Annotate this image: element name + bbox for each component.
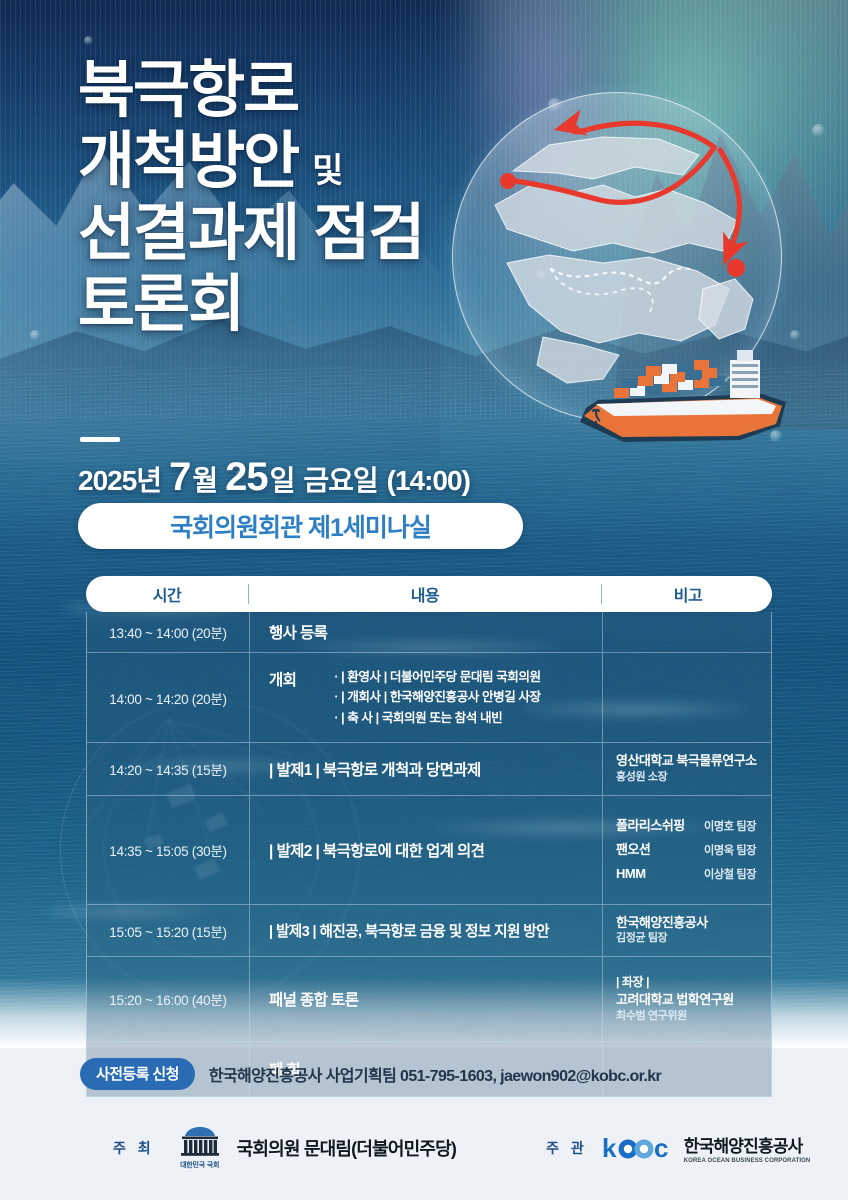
column-header-remarks: 비고 [602, 582, 774, 606]
remark-company: 팬오션 [616, 838, 704, 862]
remark-person: 이상철 팀장 [704, 865, 756, 886]
table-row: 14:35 ~ 15:05 (30분) | 발제2 | 북극항로에 대한 업계 … [87, 795, 771, 904]
event-date-line: 2025년 7 월 25 일 금요일 (14:00) [78, 455, 470, 500]
row-content: | 발제1 | 북극항로 개척과 당면과제 [249, 743, 602, 794]
host-name: 국회의원 문대림(더불어민주당) [237, 1135, 456, 1161]
table-row: 13:40 ~ 14:00 (20분) 행사 등록 [87, 612, 771, 652]
row-time: 14:20 ~ 14:35 (15분) [87, 743, 249, 794]
globe-illustration [452, 92, 782, 422]
registration-contact: 한국해양진흥공사 사업기획팀 051-795-1603, jaewon902@k… [209, 1062, 661, 1086]
row-time: 15:05 ~ 15:20 (15분) [87, 905, 249, 956]
title-conjunction: 및 [312, 152, 342, 190]
row-content: 패널 종합 토론 [249, 957, 602, 1040]
row-title: 개회 [269, 667, 296, 690]
schedule-table-body: 13:40 ~ 14:00 (20분) 행사 등록 14:00 ~ 14:20 … [86, 612, 772, 1097]
date-year: 2025년 [78, 459, 161, 499]
organizer-name-kr: 한국해양진흥공사 [684, 1132, 811, 1157]
registration-row: 사전등록 신청 한국해양진흥공사 사업기획팀 051-795-1603, jae… [80, 1058, 661, 1090]
remark-organization: 고려대학교 법학연구원 [616, 991, 771, 1009]
route-endpoint-europe [500, 173, 516, 189]
schedule-table-header: 시간 내용 비고 [86, 576, 772, 612]
title-line-3: 선결과제 점검 [78, 203, 423, 264]
row-remarks: | 좌장 | 고려대학교 법학연구원 최수범 연구위원 [602, 957, 771, 1040]
route-endpoint-korea [727, 259, 745, 277]
organizer-name-en: KOREA OCEAN BUSINESS CORPORATION [684, 1158, 811, 1164]
date-time: (14:00) [387, 465, 470, 497]
row-title: | 발제2 | 북극항로에 대한 업계 의견 [269, 839, 484, 861]
svg-text:k: k [602, 1133, 617, 1163]
opening-program-list: · | 환영사 | 더불어민주당 문대림 국회의원 · | 개회사 | 한국해양… [334, 667, 540, 728]
remark-organization: 영산대학교 북극물류연구소 [616, 752, 771, 770]
route-line-northern [510, 148, 714, 202]
date-month-unit: 월 [192, 459, 217, 499]
table-row: 14:20 ~ 14:35 (15분) | 발제1 | 북극항로 개척과 당면과… [87, 742, 771, 794]
row-title: | 발제1 | 북극항로 개척과 당면과제 [269, 758, 481, 780]
registration-badge[interactable]: 사전등록 신청 [80, 1058, 195, 1090]
row-content: | 발제2 | 북극항로에 대한 업계 의견 [249, 796, 602, 904]
row-time: 14:00 ~ 14:20 (20분) [87, 653, 249, 742]
title-line-4: 토론회 [78, 274, 423, 335]
row-remarks: 한국해양진흥공사 김정균 팀장 [602, 905, 771, 956]
column-header-time: 시간 [86, 582, 248, 606]
title-line-2: 개척방안및 [78, 131, 423, 192]
bokeh-dot [812, 124, 825, 137]
remark-company: 폴라리스쉬핑 [616, 814, 704, 838]
poster-root: 북극항로 개척방안및 선결과제 점검 토론회 2025년 7 월 25 일 금요… [0, 0, 848, 1200]
kobc-logo-icon[interactable]: k c [602, 1133, 672, 1163]
date-day-number: 25 [225, 455, 268, 500]
title-divider-rule [80, 437, 120, 442]
table-row: 15:20 ~ 16:00 (40분) 패널 종합 토론 | 좌장 | 고려대학… [87, 956, 771, 1040]
remark-chair-label: | 좌장 | [616, 973, 771, 991]
route-arrow-west [570, 123, 714, 147]
date-month-number: 7 [169, 455, 190, 500]
row-content: 개회 · | 환영사 | 더불어민주당 문대림 국회의원 · | 개회사 | 한… [249, 653, 602, 742]
opening-item-welcome: · | 환영사 | 더불어민주당 문대림 국회의원 [334, 667, 540, 687]
venue-text: 국회의원회관 제1세미나실 [170, 508, 431, 544]
national-assembly-logo: 대한민국 국회 [173, 1125, 227, 1170]
row-title: 행사 등록 [269, 621, 327, 643]
table-row: 15:05 ~ 15:20 (15분) | 발제3 | 해진공, 북극항로 금융… [87, 904, 771, 956]
title-line-2-text: 개척방안 [78, 127, 298, 196]
footer-host-group: 주 최 대한민국 국회 [113, 1125, 456, 1170]
row-remarks [602, 653, 771, 742]
remark-person: 김정균 팀장 [616, 931, 771, 947]
remark-person: 최수범 연구위원 [616, 1009, 771, 1025]
schedule-table: 시간 내용 비고 13:40 ~ 14:00 (20분) 행사 등록 14:00… [86, 576, 772, 1097]
title-line-1: 북극항로 [78, 60, 423, 121]
remark-person: 홍성원 소장 [616, 770, 771, 786]
row-remarks: 영산대학교 북극물류연구소 홍성원 소장 [602, 743, 771, 794]
row-title: | 발제3 | 해진공, 북극항로 금융 및 정보 지원 방안 [269, 920, 549, 941]
bokeh-dot [30, 330, 40, 340]
route-arrow-south [720, 150, 739, 250]
assembly-building-icon [173, 1125, 227, 1159]
venue-pill: 국회의원회관 제1세미나실 [78, 503, 523, 549]
remark-pair: 팬오션 이명욱 팀장 [616, 838, 771, 862]
column-header-content: 내용 [249, 582, 601, 606]
date-weekday: 금요일 [303, 459, 377, 499]
remark-person: 이명호 팀장 [704, 817, 756, 838]
opening-item-opening: · | 개회사 | 한국해양진흥공사 안병길 사장 [334, 687, 540, 707]
host-label: 주 최 [113, 1138, 155, 1158]
row-content: 행사 등록 [249, 612, 602, 652]
remark-company: HMM [616, 862, 704, 886]
row-time: 13:40 ~ 14:00 (20분) [87, 612, 249, 652]
organizer-label: 주 관 [546, 1138, 588, 1158]
poster-title: 북극항로 개척방안및 선결과제 점검 토론회 [78, 60, 423, 336]
footer-sponsors: 주 최 대한민국 국회 [0, 1125, 848, 1170]
remark-pair: HMM 이상철 팀장 [616, 862, 771, 886]
remark-person: 이명욱 팀장 [704, 841, 756, 862]
assembly-logo-caption: 대한민국 국회 [180, 1160, 219, 1170]
row-remarks [602, 612, 771, 652]
footer-organizer-group: 주 관 k c 한국해양진흥공사 KOREA OCEAN BUSINESS CO… [546, 1132, 810, 1164]
container-ship-illustration [572, 316, 802, 456]
row-title: 패널 종합 토론 [269, 988, 358, 1010]
date-day-unit: 일 [270, 459, 295, 499]
row-content: | 발제3 | 해진공, 북극항로 금융 및 정보 지원 방안 [249, 905, 602, 956]
svg-text:c: c [654, 1133, 668, 1163]
remark-organization: 한국해양진흥공사 [616, 914, 771, 932]
row-time: 15:20 ~ 16:00 (40분) [87, 957, 249, 1040]
remark-pair: 폴라리스쉬핑 이명호 팀장 [616, 814, 771, 838]
opening-item-congrats: · | 축 사 | 국회의원 또는 참석 내빈 [334, 708, 540, 728]
bokeh-dot [84, 36, 93, 45]
row-time: 14:35 ~ 15:05 (30분) [87, 796, 249, 904]
row-remarks: 폴라리스쉬핑 이명호 팀장 팬오션 이명욱 팀장 HMM 이상철 팀장 [602, 796, 771, 904]
organizer-nameblock: 한국해양진흥공사 KOREA OCEAN BUSINESS CORPORATIO… [684, 1132, 811, 1164]
table-row: 14:00 ~ 14:20 (20분) 개회 · | 환영사 | 더불어민주당 … [87, 652, 771, 742]
